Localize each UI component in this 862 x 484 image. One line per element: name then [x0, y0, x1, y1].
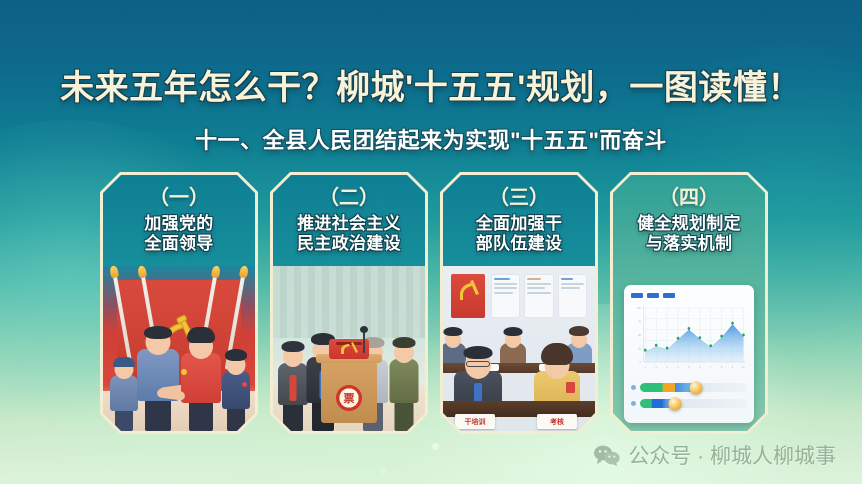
card-4-title-line2: 与落实机制 — [613, 234, 765, 254]
svg-text:10: 10 — [742, 366, 745, 369]
svg-text:4: 4 — [677, 366, 679, 369]
person-cadre-female — [531, 347, 583, 409]
card-2-title: 推进社会主义 民主政治建设 — [273, 214, 425, 254]
page-title: 未来五年怎么干？柳城'十五五'规划，一图读懂！ — [0, 60, 862, 109]
svg-text:6: 6 — [699, 366, 701, 369]
card-3-illustration: 干培训 考核 — [443, 266, 595, 431]
ballot-seal: 票 — [336, 385, 362, 411]
chart-point-4 — [677, 337, 680, 340]
placard-training: 干培训 — [455, 414, 495, 429]
dust-particle — [432, 443, 439, 450]
card-2-heading: （二） 推进社会主义 民主政治建设 — [273, 175, 425, 254]
svg-text:25: 25 — [638, 347, 641, 350]
card-3-heading: （三） 全面加强干 部队伍建设 — [443, 175, 595, 254]
card-2-illustration: 票 — [273, 266, 425, 431]
card-4-title-line1: 健全规划制定 — [613, 214, 765, 234]
card-1-heading: （一） 加强党的 全面领导 — [103, 175, 255, 254]
chart-point-9 — [731, 322, 734, 325]
card-4-heading: （四） 健全规划制定 与落实机制 — [613, 175, 765, 254]
slider-row-2[interactable] — [631, 399, 747, 408]
info-board — [491, 274, 587, 318]
placard-assessment: 考核 — [537, 414, 577, 429]
card-4-illustration: 0255075100 12345678910 — [613, 281, 765, 431]
progress-sliders — [631, 383, 747, 408]
slider-bullet-icon — [631, 401, 636, 406]
svg-text:8: 8 — [721, 366, 723, 369]
svg-text:75: 75 — [638, 320, 641, 323]
svg-text:7: 7 — [710, 366, 712, 369]
progress-slider-2-handle[interactable] — [669, 397, 682, 410]
podium: 票 — [321, 361, 377, 423]
slider-row-1[interactable] — [631, 383, 747, 392]
svg-text:100: 100 — [637, 307, 641, 310]
person-cadre-male — [451, 347, 505, 409]
cards-row: （一） 加强党的 全面领导 — [100, 172, 768, 434]
microphone-icon — [363, 331, 365, 353]
person-delegate-4 — [387, 333, 421, 431]
chart-point-8 — [720, 335, 723, 338]
watermark-text: 公众号 · 柳城人柳城事 — [628, 440, 836, 470]
planning-dashboard: 0255075100 12345678910 — [624, 285, 754, 423]
chart-point-1 — [644, 349, 647, 352]
legend-swatch-1 — [631, 293, 643, 298]
card-1-illustration — [103, 266, 255, 431]
legend-swatch-3 — [663, 293, 675, 298]
card-2-title-line1: 推进社会主义 — [273, 214, 425, 234]
card-1-number: （一） — [103, 187, 255, 209]
page-subtitle: 十一、全县人民团结起来为实现"十五五"而奋斗 — [0, 123, 862, 155]
card-4-number: （四） — [613, 187, 765, 209]
card-1-title-line1: 加强党的 — [103, 214, 255, 234]
chart-point-5 — [688, 327, 691, 330]
chart-point-6 — [698, 336, 701, 339]
poster-canvas: 未来五年怎么干？柳城'十五五'规划，一图读懂！ 十一、全县人民团结起来为实现"十… — [0, 0, 862, 484]
card-4-title: 健全规划制定 与落实机制 — [613, 214, 765, 254]
person-staff — [219, 347, 253, 431]
legend-swatch-2 — [647, 293, 659, 298]
svg-text:9: 9 — [732, 366, 734, 369]
card-3[interactable]: 干培训 考核 （三） 全面加强干 部队伍建设 — [440, 172, 598, 434]
svg-text:3: 3 — [666, 366, 668, 369]
card-2-number: （二） — [273, 187, 425, 209]
card-1-title: 加强党的 全面领导 — [103, 214, 255, 254]
party-flag-banner — [451, 274, 485, 318]
chart-point-2 — [655, 344, 658, 347]
svg-text:2: 2 — [656, 366, 658, 369]
svg-text:1: 1 — [645, 366, 647, 369]
card-3-title-line1: 全面加强干 — [443, 214, 595, 234]
progress-area-chart: 0255075100 12345678910 — [631, 302, 747, 374]
card-2[interactable]: 票 （二） 推进社会主义 民主政治建设 — [270, 172, 428, 434]
svg-text:0: 0 — [640, 361, 642, 364]
slider-bullet-icon — [631, 385, 636, 390]
progress-slider-1-handle[interactable] — [689, 381, 702, 394]
card-3-title: 全面加强干 部队伍建设 — [443, 214, 595, 254]
card-3-title-line2: 部队伍建设 — [443, 234, 595, 254]
card-2-title-line2: 民主政治建设 — [273, 234, 425, 254]
progress-slider-2-track[interactable] — [640, 399, 747, 408]
card-1-title-line2: 全面领导 — [103, 234, 255, 254]
svg-text:50: 50 — [638, 334, 641, 337]
chart-point-10 — [742, 334, 745, 337]
header: 未来五年怎么干？柳城'十五五'规划，一图读懂！ 十一、全县人民团结起来为实现"十… — [0, 60, 862, 155]
watermark: 公众号 · 柳城人柳城事 — [594, 440, 836, 470]
card-3-number: （三） — [443, 187, 595, 209]
wechat-icon — [594, 445, 620, 466]
card-4[interactable]: 0255075100 12345678910 — [610, 172, 768, 434]
dust-particle — [381, 469, 386, 474]
chart-point-3 — [666, 346, 669, 349]
chart-legend — [631, 293, 747, 298]
progress-slider-1-track[interactable] — [640, 383, 747, 392]
chart-point-7 — [709, 344, 712, 347]
svg-text:5: 5 — [688, 366, 690, 369]
card-1[interactable]: （一） 加强党的 全面领导 — [100, 172, 258, 434]
